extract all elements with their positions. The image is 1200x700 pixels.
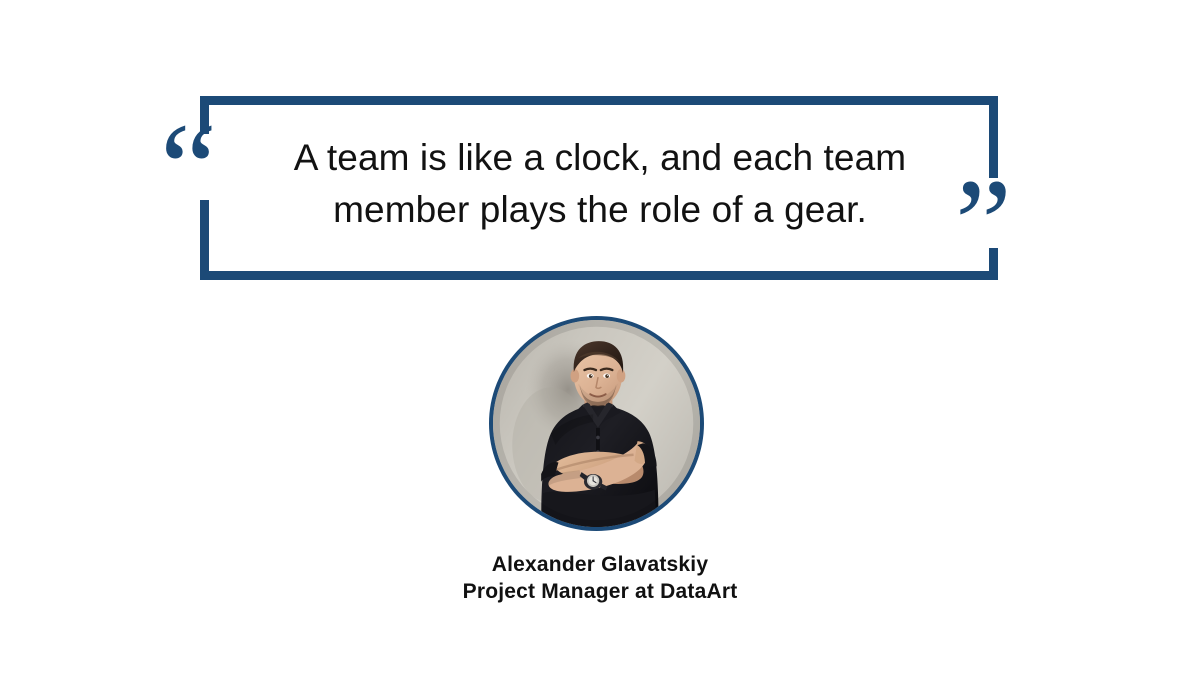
quote-text: A team is like a clock, and each team me… xyxy=(250,132,950,236)
attribution-role: Project Manager at DataArt xyxy=(0,578,1200,605)
quote-slide: “ ” A team is like a clock, and each tea… xyxy=(0,0,1200,700)
closing-quote-icon: ” xyxy=(955,160,1010,288)
avatar xyxy=(489,316,704,531)
attribution: Alexander Glavatskiy Project Manager at … xyxy=(0,551,1200,605)
avatar-photo xyxy=(493,320,700,527)
frame-bottom-border xyxy=(200,271,998,280)
frame-top-border xyxy=(200,96,998,105)
attribution-name: Alexander Glavatskiy xyxy=(0,551,1200,578)
opening-quote-icon: “ xyxy=(160,104,215,232)
